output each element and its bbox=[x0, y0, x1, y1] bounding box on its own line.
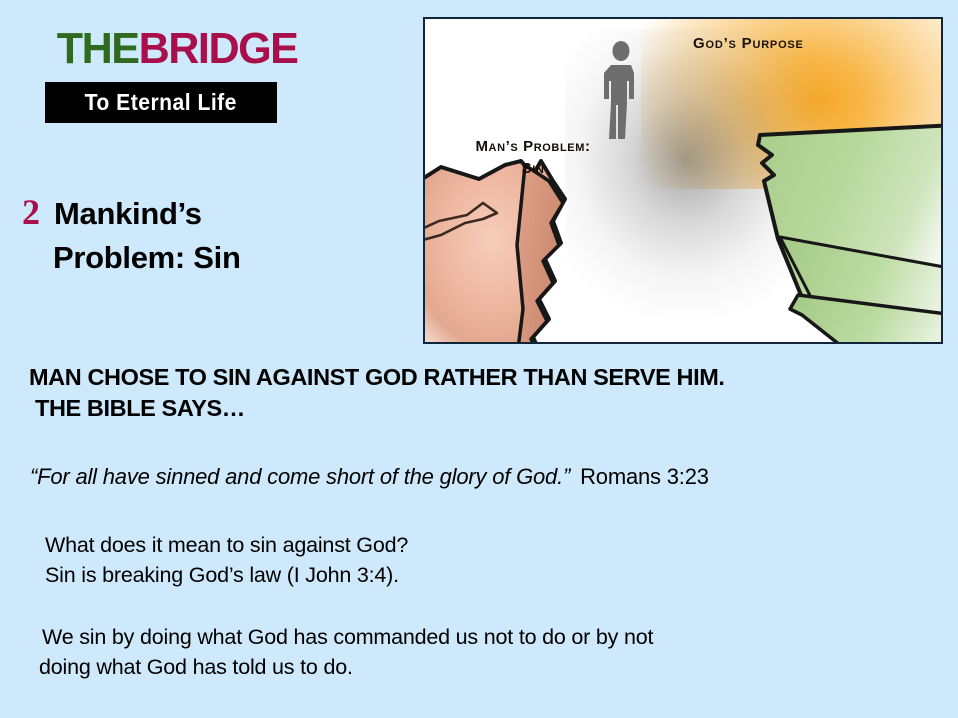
verse-quote: “For all have sinned and come short of t… bbox=[30, 464, 570, 489]
verse-reference: Romans 3:23 bbox=[570, 464, 709, 489]
left-cliff-mans-problem bbox=[423, 159, 643, 344]
section-number: 2 bbox=[22, 193, 54, 231]
logo-tagline: To Eternal Life bbox=[85, 89, 237, 116]
section-title-line2: Problem: Sin bbox=[22, 236, 402, 280]
body-paragraph-1: What does it mean to sin against God? Si… bbox=[45, 530, 408, 590]
slide-canvas: THEBRIDGE To Eternal Life 2 Mankind’s Pr… bbox=[0, 0, 958, 718]
standing-person-figure bbox=[603, 41, 639, 141]
chasm-illustration: Man’s Problem: Sin God’s Purpose bbox=[423, 17, 943, 344]
body-p1-line1: What does it mean to sin against God? bbox=[45, 530, 408, 560]
headline-line1: MAN CHOSE TO SIN AGAINST GOD RATHER THAN… bbox=[29, 362, 725, 393]
right-cliff-shape bbox=[750, 119, 943, 344]
headline-line2: THE BIBLE SAYS… bbox=[29, 393, 725, 424]
section-heading-line1: 2 Mankind’s bbox=[22, 192, 402, 236]
logo-word-the: THE bbox=[57, 24, 139, 73]
cliff-label-mans-problem: Man’s Problem: Sin bbox=[443, 136, 623, 180]
body-paragraph-2: We sin by doing what God has commanded u… bbox=[42, 622, 882, 682]
section-heading: 2 Mankind’s Problem: Sin bbox=[22, 192, 402, 280]
cliff-label-line1: Man’s Problem: bbox=[475, 138, 590, 155]
logo-tagline-bar: To Eternal Life bbox=[45, 82, 277, 123]
left-cliff-shape bbox=[423, 159, 643, 344]
illustration-canvas: Man’s Problem: Sin God’s Purpose bbox=[425, 19, 941, 342]
bridge-logo: THEBRIDGE To Eternal Life bbox=[45, 24, 280, 123]
right-cliff-gods-purpose bbox=[750, 119, 943, 344]
cliff-label-line2: Sin bbox=[522, 160, 545, 177]
body-p2-line1: We sin by doing what God has commanded u… bbox=[42, 625, 653, 649]
body-p1-line2: Sin is breaking God’s law (I John 3:4). bbox=[45, 560, 408, 590]
section-title-line1: Mankind’s bbox=[54, 192, 202, 236]
person-silhouette-icon bbox=[603, 41, 639, 141]
headline-block: MAN CHOSE TO SIN AGAINST GOD RATHER THAN… bbox=[29, 362, 725, 424]
logo-wordmark: THEBRIDGE bbox=[45, 24, 275, 74]
body-p2-line2: doing what God has told us to do. bbox=[39, 652, 882, 682]
glow-label-gods-purpose: God’s Purpose bbox=[693, 35, 804, 52]
logo-word-bridge: BRIDGE bbox=[139, 24, 298, 73]
scripture-verse: “For all have sinned and come short of t… bbox=[30, 463, 709, 491]
